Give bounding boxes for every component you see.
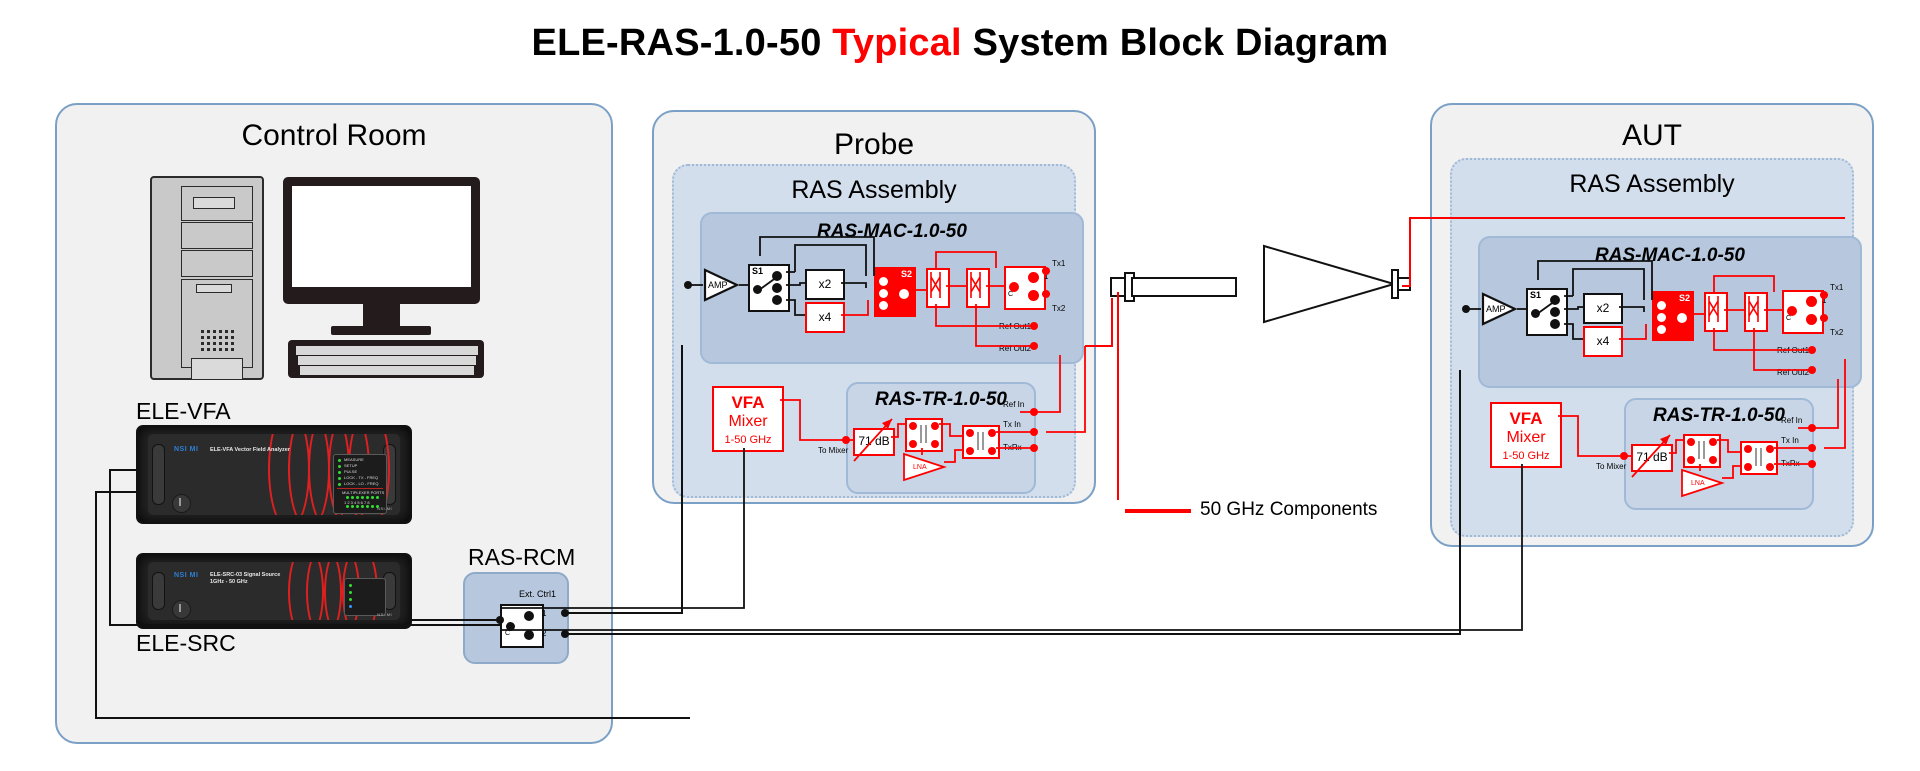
- rf-port-markers: [0, 0, 1920, 771]
